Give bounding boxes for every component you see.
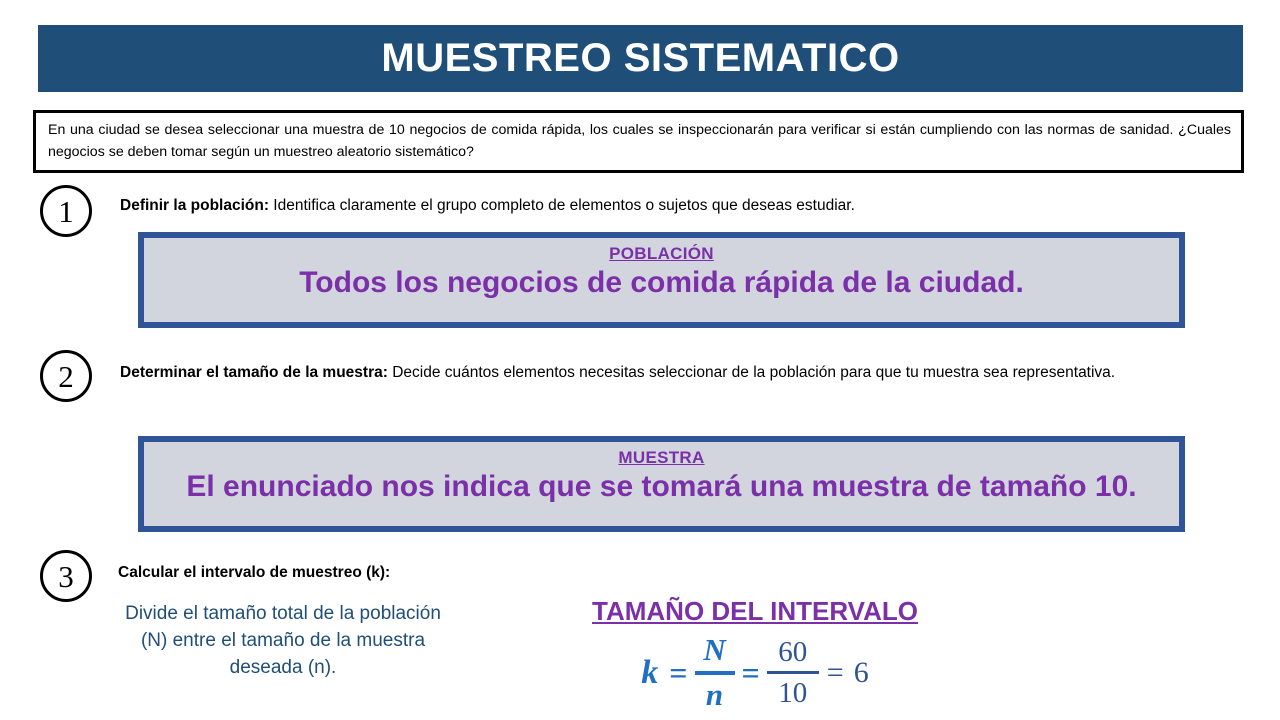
step-3-heading-bold: Calcular el intervalo de muestreo (k): [118,564,390,581]
formula-equals-3: = [819,658,852,688]
step-1-heading-rest: Identifica claramente el grupo completo … [269,197,855,214]
formula-fraction-bar-symbolic [695,671,735,675]
step-1-heading: Definir la población: Identifica clarame… [120,194,1220,218]
step-number-1: 1 [40,185,92,237]
step-2-heading: Determinar el tamaño de la muestra: Deci… [120,361,1230,385]
step-number-1-label: 1 [58,196,74,227]
step-2-heading-bold: Determinar el tamaño de la muestra: [120,364,388,381]
formula-fraction-numeric: 60 10 [767,636,819,710]
step-3-heading: Calcular el intervalo de muestreo (k): [118,561,538,585]
problem-statement-box: En una ciudad se desea seleccionar una m… [33,110,1244,173]
muestra-box-value: El enunciado nos indica que se tomará un… [148,470,1175,505]
step-number-2: 2 [40,350,92,402]
formula-result: 6 [852,658,869,688]
formula-fraction-bar-numeric [767,671,819,674]
page-title: MUESTREO SISTEMATICO [381,36,899,81]
problem-statement-text: En una ciudad se desea seleccionar una m… [48,119,1231,163]
muestra-box: MUESTRA El enunciado nos indica que se t… [138,436,1185,532]
formula-denominator-symbol: n [703,678,726,713]
step-3-description: Divide el tamaño total de la población (… [118,601,448,682]
step-number-3-label: 3 [58,561,74,592]
formula-numerator-value: 60 [775,636,810,668]
step-number-2-label: 2 [58,361,74,392]
step-number-3: 3 [40,550,92,602]
poblacion-box-value: Todos los negocios de comida rápida de l… [148,266,1175,301]
slide-title-banner: MUESTREO SISTEMATICO [38,25,1243,92]
poblacion-box: POBLACIÓN Todos los negocios de comida r… [138,232,1185,328]
formula-denominator-value: 10 [775,677,810,709]
formula-symbol-k: k [641,656,662,690]
formula-equals-2: = [735,657,767,689]
step-2-heading-rest: Decide cuántos elementos necesitas selec… [388,364,1115,381]
formula-fraction-symbolic: N n [695,633,735,712]
formula-numerator-symbol: N [700,633,728,668]
step-1-heading-bold: Definir la población: [120,197,269,214]
poblacion-box-label: POBLACIÓN [148,244,1175,264]
interval-formula: k = N n = 60 10 = 6 [520,633,990,712]
muestra-box-label: MUESTRA [148,448,1175,468]
interval-formula-block: TAMAÑO DEL INTERVALO k = N n = 60 10 = 6 [520,596,990,712]
interval-title: TAMAÑO DEL INTERVALO [520,596,990,627]
formula-equals-1: = [662,657,694,689]
